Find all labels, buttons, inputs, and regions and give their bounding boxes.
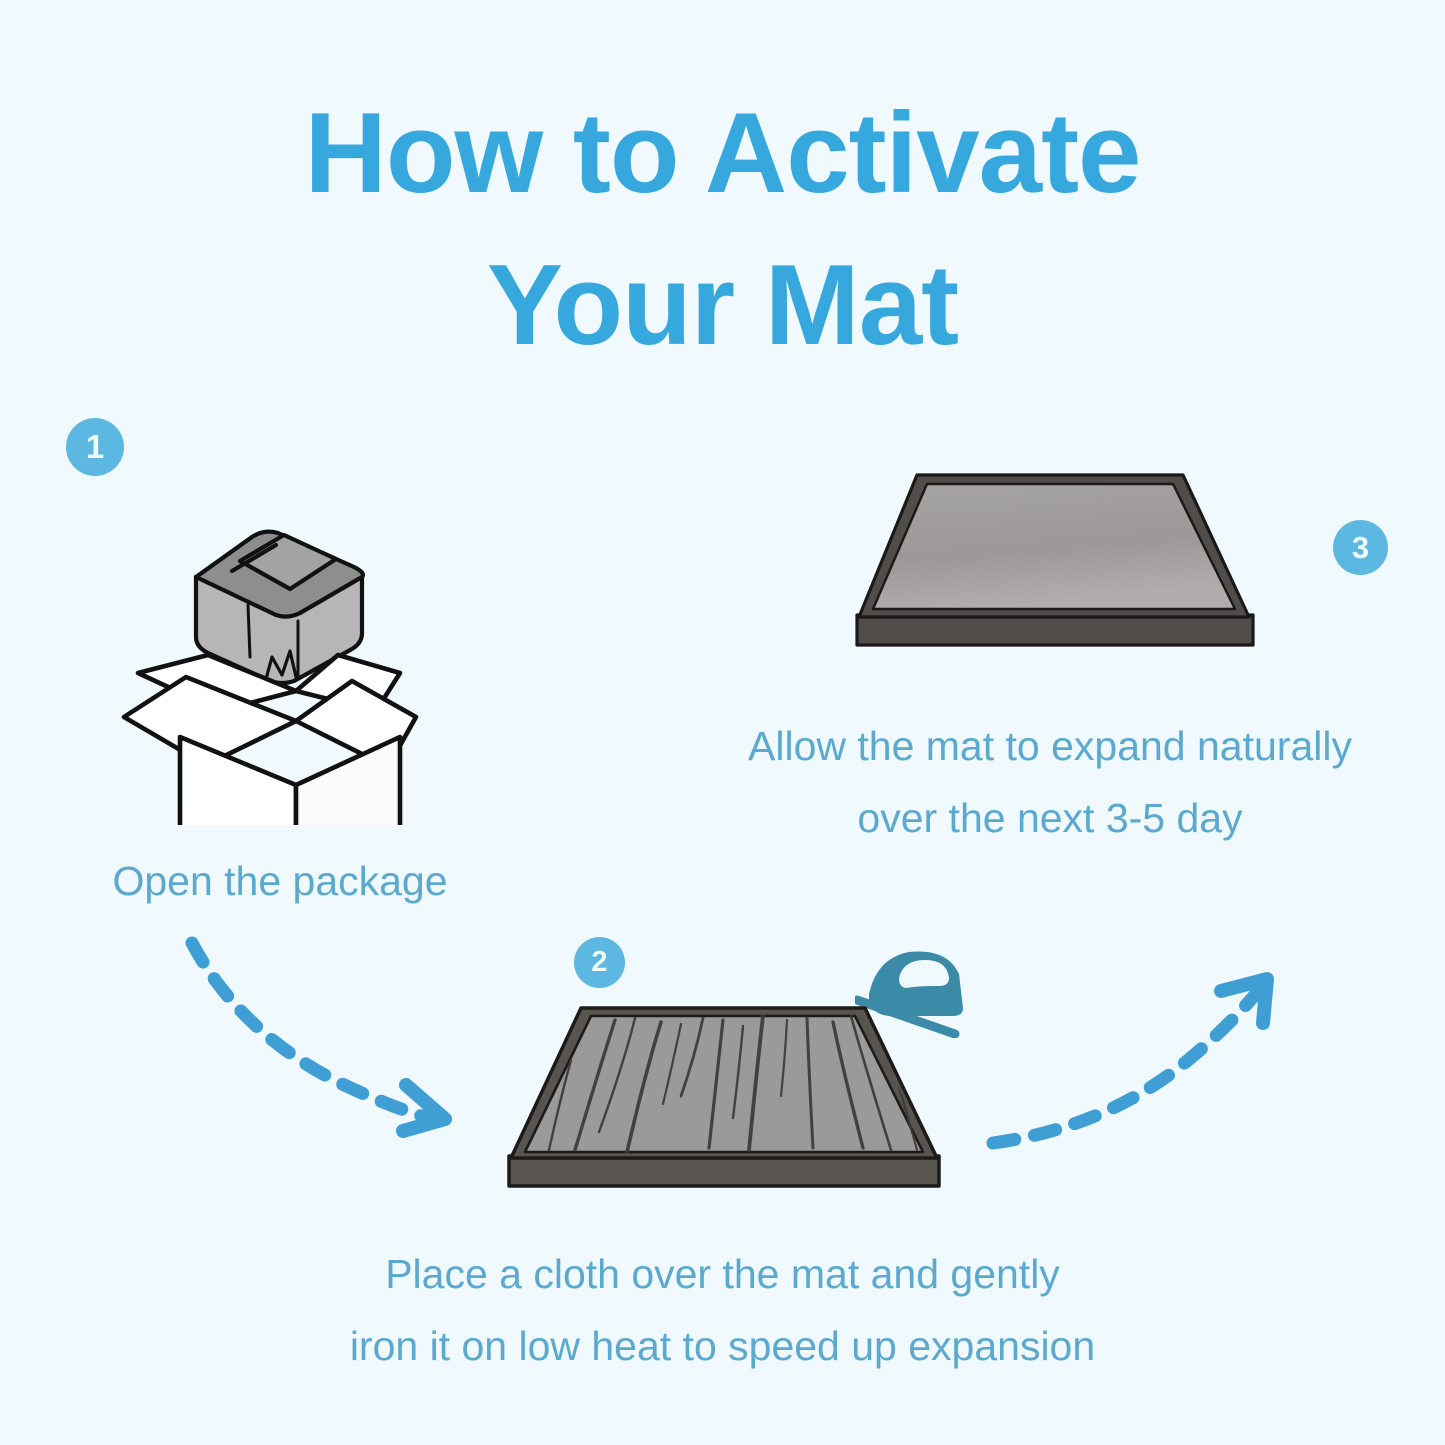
open-cardboard-box-illustration (100, 485, 440, 825)
step-badge-1-number: 1 (86, 428, 104, 466)
cardboard-box-icon (124, 655, 416, 825)
cloth-covered-mat-illustration (495, 1000, 955, 1215)
expanded-flat-mat-illustration (835, 465, 1275, 665)
step-badge-3-number: 3 (1352, 530, 1369, 566)
dashed-curved-arrow-up-right-icon (975, 955, 1295, 1165)
step-badge-2-number: 2 (591, 946, 607, 979)
step-badge-3: 3 (1333, 520, 1388, 575)
step-badge-2: 2 (574, 937, 625, 988)
step-2-caption: Place a cloth over the mat and gently ir… (230, 1238, 1215, 1382)
step-3-caption: Allow the mat to expand naturally over t… (660, 710, 1440, 854)
page-title: How to Activate Your Mat (0, 78, 1445, 382)
dashed-curved-arrow-down-right-icon (170, 925, 490, 1140)
title-line-2: Your Mat (0, 230, 1445, 382)
title-line-1: How to Activate (0, 78, 1445, 230)
how-to-activate-mat-infographic: How to Activate Your Mat 1 (0, 0, 1445, 1445)
step-1-caption: Open the package (50, 845, 510, 917)
step-badge-1: 1 (66, 418, 124, 476)
